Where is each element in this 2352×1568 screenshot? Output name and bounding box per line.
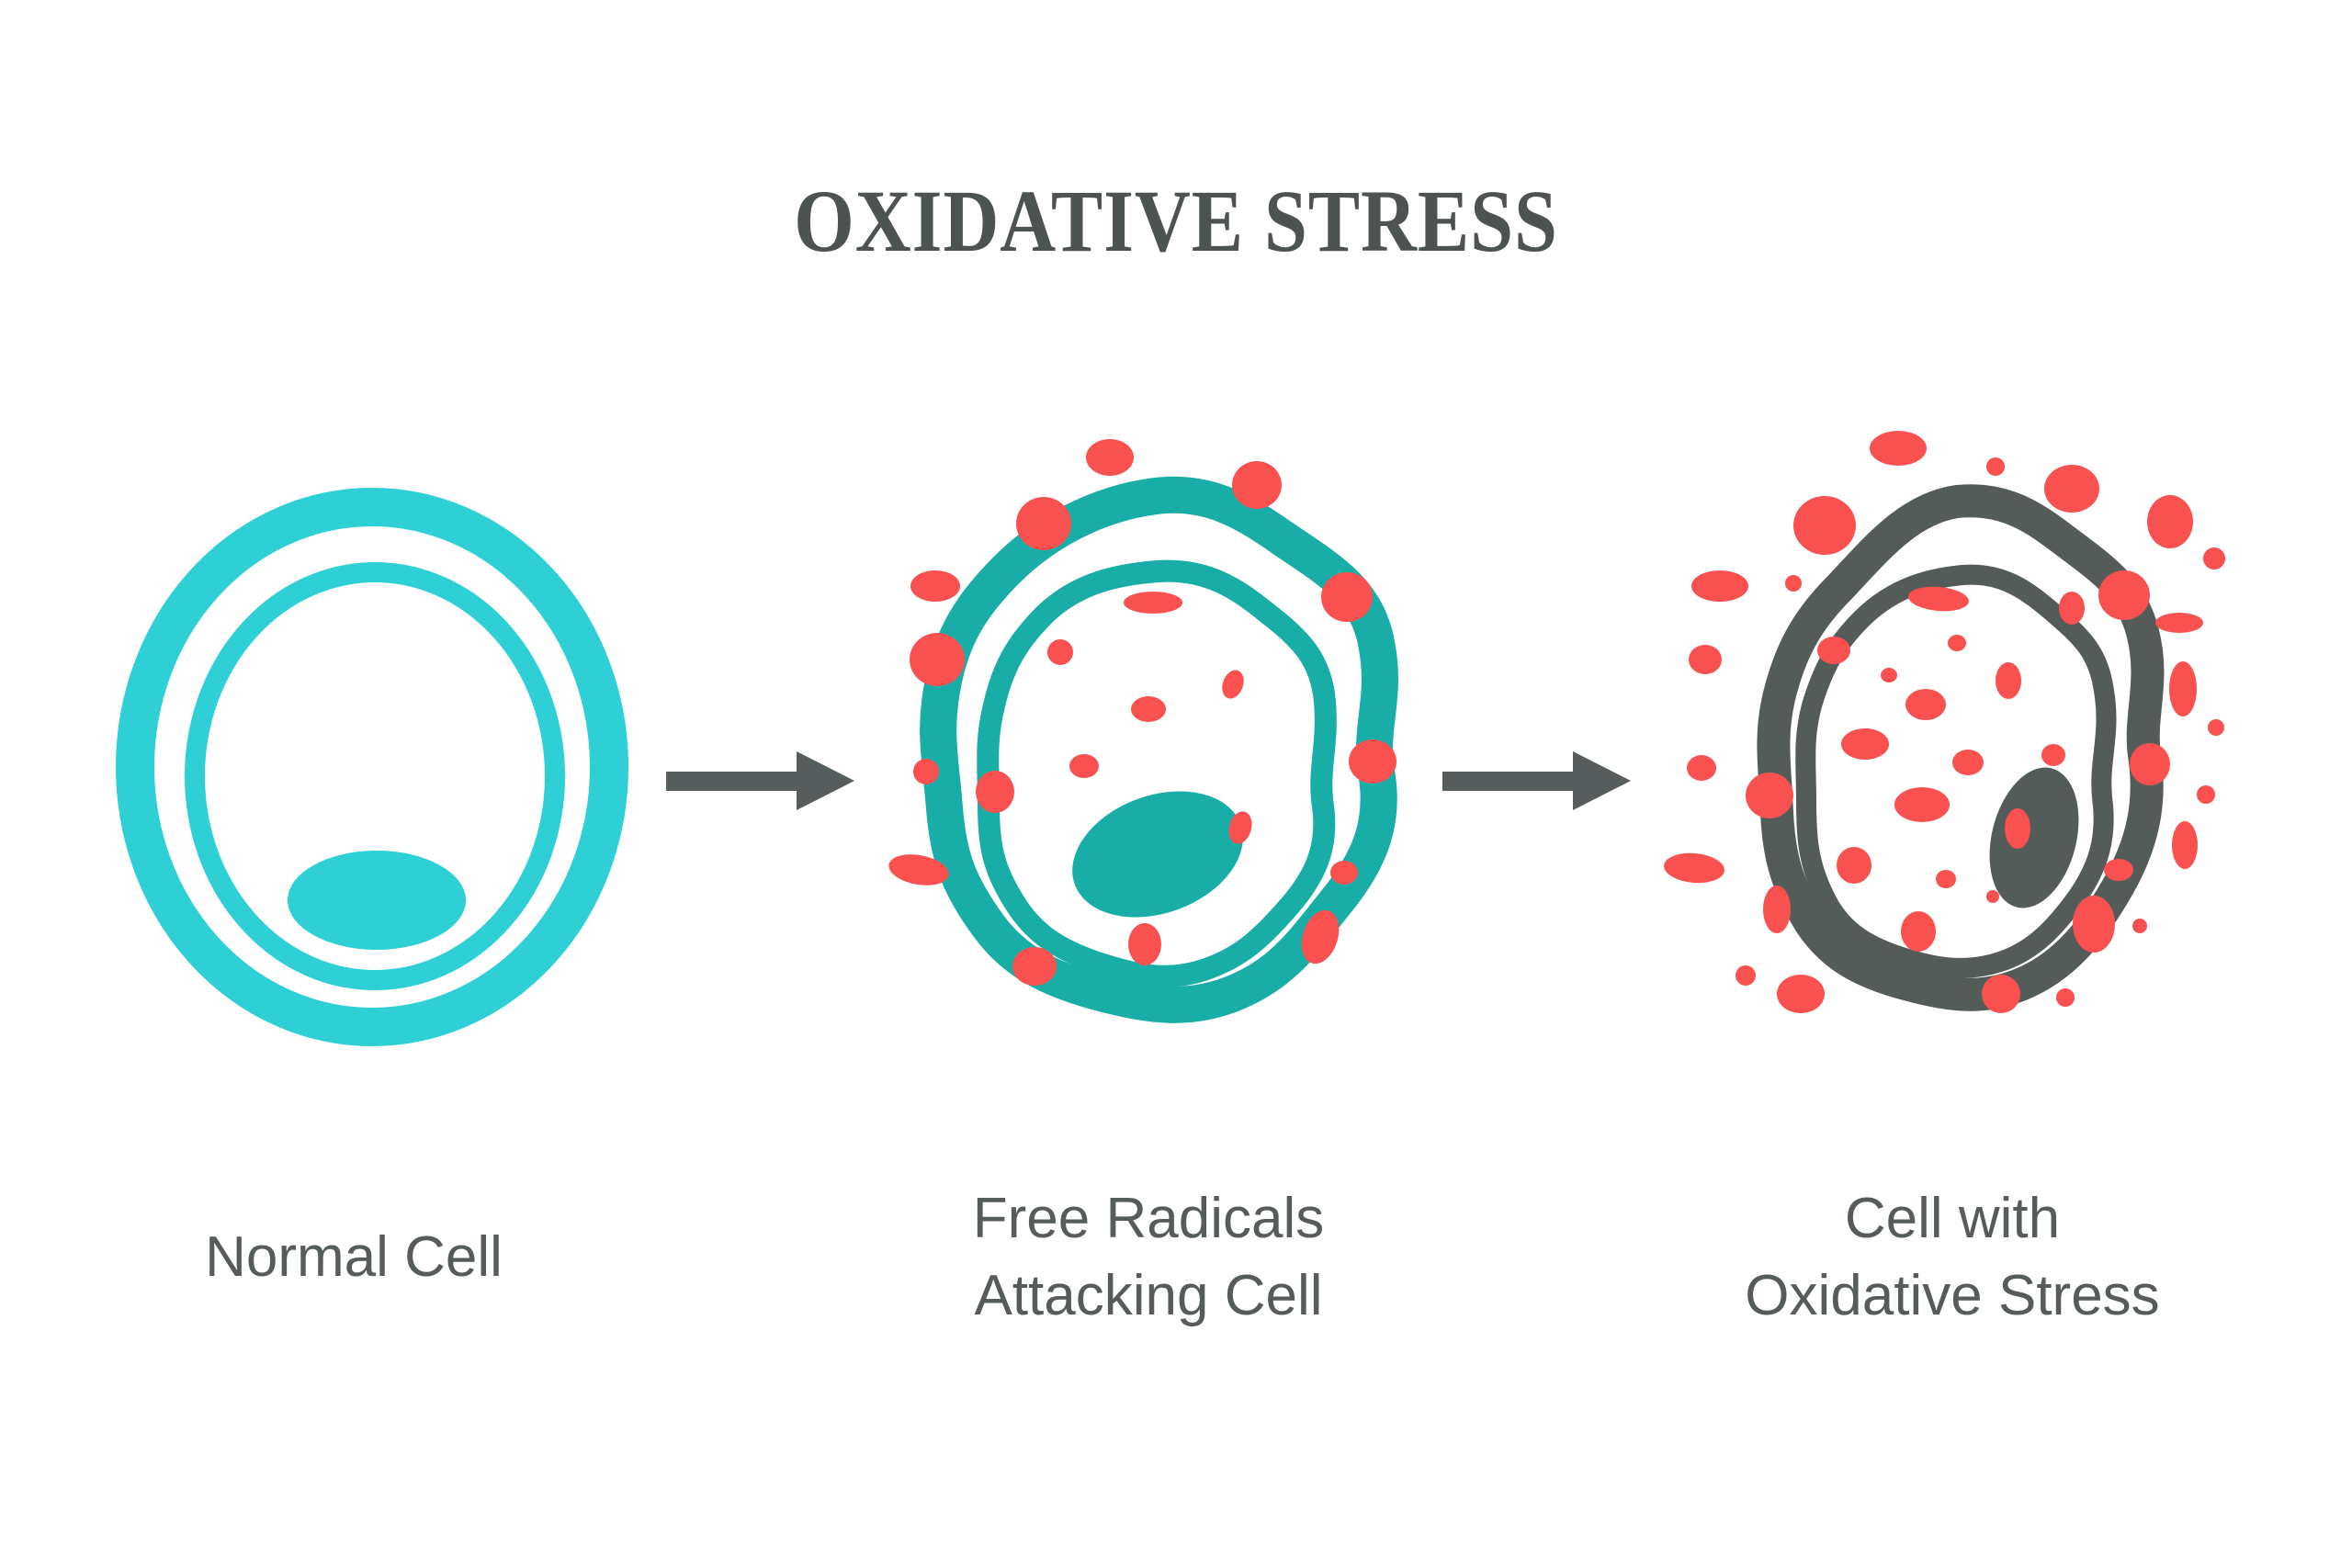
free-radical-particle xyxy=(1982,975,2020,1013)
free-radical-particle xyxy=(910,633,965,686)
free-radical-particle xyxy=(1905,689,1946,720)
caption-free-radicals-attacking-cell: Free Radicals Attacking Cell xyxy=(854,1180,1442,1335)
arrow-right-icon-2 xyxy=(1442,744,1635,818)
free-radical-particle xyxy=(2169,661,2197,716)
free-radical-particle xyxy=(2203,547,2225,570)
free-radical-particle xyxy=(2197,785,2215,804)
free-radical-particle xyxy=(1986,890,1999,903)
free-radical-particle xyxy=(2059,592,2085,625)
free-radical-particle xyxy=(1952,750,1984,775)
free-radical-particle xyxy=(1321,572,1373,622)
free-radical-particle xyxy=(910,570,960,602)
page-title: OXIDATIVE STRESS xyxy=(141,170,2211,272)
free-radical-particle xyxy=(2155,613,2203,633)
cell-stages xyxy=(0,395,2352,1093)
free-radical-particle xyxy=(1841,728,1889,760)
free-radical-particle xyxy=(1047,639,1073,665)
free-radical-particle xyxy=(1330,861,1358,885)
free-radical-particle xyxy=(1837,847,1871,884)
free-radical-particle xyxy=(1736,965,1756,986)
free-radical-particle xyxy=(2005,808,2030,849)
free-radical-particle xyxy=(2147,495,2193,548)
free-radical-particle xyxy=(1746,773,1793,818)
infographic-canvas: OXIDATIVE STRESS xyxy=(0,0,2352,1568)
free-radical-particle xyxy=(1986,457,2005,476)
free-radical-particle xyxy=(1894,787,1950,822)
free-radical-particle xyxy=(1777,975,1825,1013)
free-radical-particle xyxy=(2098,570,2150,620)
free-radical-particle xyxy=(1218,667,1248,702)
stage-captions: Normal Cell Free Radicals Attacking Cell… xyxy=(0,1180,2352,1419)
free-radical-particle xyxy=(2130,743,2170,785)
caption-normal-cell: Normal Cell xyxy=(55,1219,652,1296)
free-radical-particle xyxy=(1689,645,1722,674)
free-radical-particle xyxy=(2041,744,2065,766)
free-radical-particle xyxy=(1691,570,1748,602)
free-radical-particle xyxy=(1901,911,1936,952)
free-radical-particle xyxy=(1870,431,1927,466)
free-radical-particle xyxy=(2132,919,2147,933)
free-radical-particle xyxy=(1785,575,1802,592)
free-radical-particle xyxy=(1128,923,1161,965)
free-radical-particle xyxy=(1996,662,2021,699)
free-radical-particle xyxy=(2104,859,2133,881)
free-radical-particle xyxy=(1016,497,1071,550)
free-radical-particle xyxy=(976,771,1014,813)
free-radical-particle xyxy=(1131,696,1166,722)
free-radical-particle xyxy=(2172,821,2198,869)
caption-cell-with-oxidative-stress: Cell with Oxidative Stress xyxy=(1645,1180,2260,1335)
attacked-cell-nucleus xyxy=(1055,769,1261,940)
free-radical-particle xyxy=(2056,988,2075,1007)
cell-attacked-graphic xyxy=(873,423,1461,1066)
free-radical-particle xyxy=(1124,592,1182,614)
free-radical-particle xyxy=(1881,668,1897,682)
free-radical-particle xyxy=(1936,870,1956,888)
attacked-cell-inner-membrane xyxy=(988,571,1326,976)
arrow-right-icon-1 xyxy=(666,744,859,818)
stressed-cell-inner-membrane xyxy=(1805,575,2106,968)
free-radical-particle xyxy=(1663,851,1726,886)
free-radical-particle xyxy=(2073,896,2115,953)
normal-cell-nucleus xyxy=(288,851,466,950)
cell-stressed-graphic xyxy=(1654,423,2278,1066)
free-radical-particle xyxy=(1687,755,1716,781)
free-radical-particle xyxy=(913,759,939,784)
free-radical-particle xyxy=(2208,719,2224,736)
free-radical-particle xyxy=(1817,637,1850,664)
free-radical-particle xyxy=(1069,754,1099,778)
cell-normal-graphic xyxy=(110,487,661,1075)
free-radical-particle xyxy=(1349,739,1396,784)
free-radical-particle xyxy=(1793,496,1856,555)
free-radical-particle xyxy=(1948,635,1966,651)
free-radical-particle xyxy=(1012,947,1057,986)
free-radical-particle xyxy=(1232,461,1282,509)
free-radical-particle xyxy=(1763,886,1791,933)
free-radical-particle xyxy=(2044,465,2099,513)
free-radical-particle xyxy=(1086,439,1134,476)
